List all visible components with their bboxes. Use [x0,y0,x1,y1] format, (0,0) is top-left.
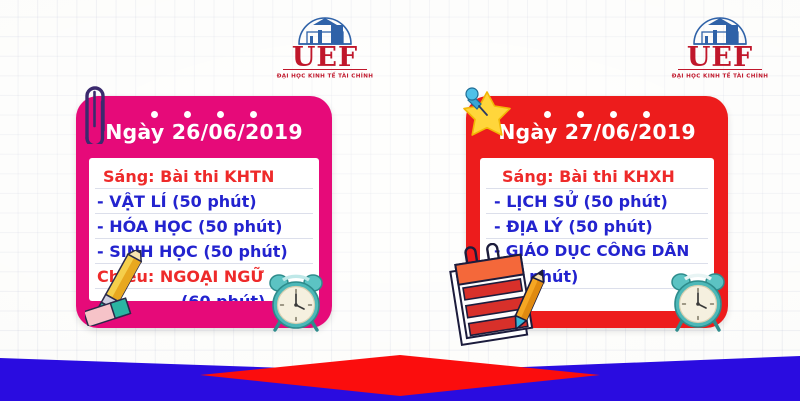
card-left-date: Ngày 26/06/2019 [76,120,332,144]
uef-logo-right-tagline: ĐẠI HỌC KINH TẾ TÀI CHÍNH [672,72,769,80]
uef-logo-left: UEF ĐẠI HỌC KINH TẾ TÀI CHÍNH [269,8,381,80]
bottom-wave-banner [0,330,800,401]
paperclip-icon [73,82,113,144]
svg-text:UEF: UEF [292,42,358,73]
schedule-line: - ĐỊA LÝ (50 phút) [494,217,653,236]
pencil-icon [85,250,161,326]
schedule-line: - VẬT LÍ (50 phút) [97,192,257,211]
star-icon [459,82,521,140]
uef-logo-left-tagline: ĐẠI HỌC KINH TẾ TÀI CHÍNH [277,72,374,80]
uef-logo-left-graphic: UEF ĐẠI HỌC KINH TẾ TÀI CHÍNH [269,8,381,80]
svg-text:UEF: UEF [687,42,753,73]
schedule-line: Sáng: Bài thi KHXH [502,167,675,186]
uef-logo-right: UEF ĐẠI HỌC KINH TẾ TÀI CHÍNH [664,8,776,80]
poster-canvas: UEF ĐẠI HỌC KINH TẾ TÀI CHÍNH UEF ĐẠI HỌ… [0,0,800,401]
card-left-binder-dots [76,110,332,119]
alarm-clock-icon-left [265,270,327,332]
schedule-line: (60 phút) [181,292,265,301]
schedule-line: - HÓA HỌC (50 phút) [97,217,282,236]
alarm-clock-icon-right [666,268,730,332]
schedule-line: Sáng: Bài thi KHTN [103,167,274,186]
uef-logo-right-graphic: UEF ĐẠI HỌC KINH TẾ TÀI CHÍNH [664,8,776,80]
schedule-line: - LỊCH SỬ (50 phút) [494,192,668,211]
